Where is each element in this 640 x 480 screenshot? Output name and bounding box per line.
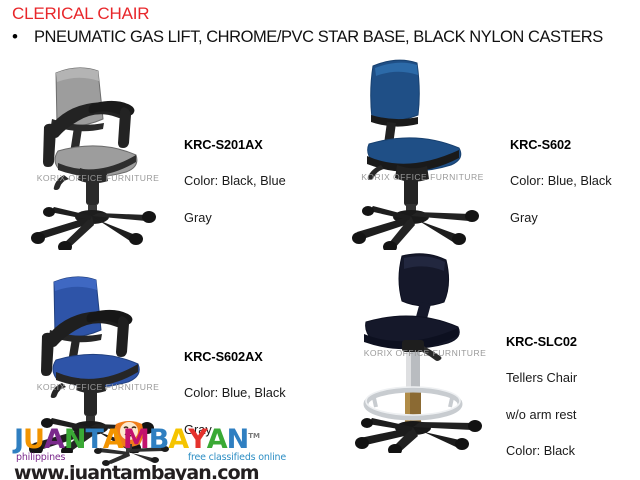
product-card-0[interactable]: KORIX OFFICE FURNITURE KRC-S201AX Color:… — [18, 55, 286, 250]
juantambayan-logo-wordmark[interactable]: JUANTAMBAYANTM — [14, 426, 260, 453]
slide-page: CLERICAL CHAIR • PNEUMATIC GAS LIFT, CHR… — [0, 0, 640, 480]
logo-letter-2: A — [44, 426, 64, 453]
product-detail-line: Tellers Chair — [506, 369, 577, 387]
logo-letter-7: B — [149, 426, 169, 453]
product-info-0: KRC-S201AX Color: Black, Blue Gray — [184, 118, 286, 245]
product-card-1[interactable]: KORIX OFFICE FURNITURE KRC-S602 Color: B… — [345, 52, 612, 250]
logo-letter-4: T — [86, 426, 103, 453]
logo-letter-1: U — [23, 426, 44, 453]
page-title: CLERICAL CHAIR — [12, 4, 149, 24]
logo-trademark-mark: TM — [248, 433, 260, 440]
feature-bullet-text: PNEUMATIC GAS LIFT, CHROME/PVC STAR BASE… — [34, 28, 603, 47]
chair-photo-krc-s201ax: KORIX OFFICE FURNITURE — [18, 55, 178, 250]
product-sku: KRC-S602AX — [184, 348, 286, 366]
chair-photo-krc-slc02: KORIX OFFICE FURNITURE — [350, 248, 500, 453]
logo-letter-5: A — [103, 426, 123, 453]
teller-chair-illustration — [350, 248, 500, 453]
product-info-1: KRC-S602 Color: Blue, Black Gray — [510, 118, 612, 245]
bullet-point-icon: • — [12, 28, 34, 45]
product-sku: KRC-S201AX — [184, 136, 286, 154]
product-detail-line: w/o arm rest — [506, 406, 577, 424]
product-detail-line: Color: Blue, Black — [510, 172, 612, 190]
product-detail-line: Color: Blue, Black — [184, 384, 286, 402]
logo-letter-3: N — [64, 426, 86, 453]
logo-letter-0: J — [14, 426, 23, 453]
feature-bullet-row: • PNEUMATIC GAS LIFT, CHROME/PVC STAR BA… — [12, 28, 636, 47]
logo-letter-10: A — [207, 426, 227, 453]
office-chair-illustration — [345, 52, 500, 250]
logo-letter-8: A — [168, 426, 188, 453]
logo-letter-9: Y — [188, 426, 207, 453]
site-url-text[interactable]: www.juantambayan.com — [14, 462, 259, 480]
site-branding-footer[interactable]: JUANTAMBAYANTM philippines free classifi… — [0, 424, 640, 480]
product-detail-line: Color: Black, Blue — [184, 172, 286, 190]
logo-letter-6: M — [123, 426, 149, 453]
product-sku: KRC-SLC02 — [506, 333, 577, 351]
product-detail-line: Gray — [184, 209, 286, 227]
product-sku: KRC-S602 — [510, 136, 612, 154]
logo-letter-11: N — [227, 426, 249, 453]
office-chair-illustration — [18, 55, 178, 250]
product-detail-line: Gray — [510, 209, 612, 227]
chair-photo-krc-s602: KORIX OFFICE FURNITURE — [345, 52, 500, 250]
